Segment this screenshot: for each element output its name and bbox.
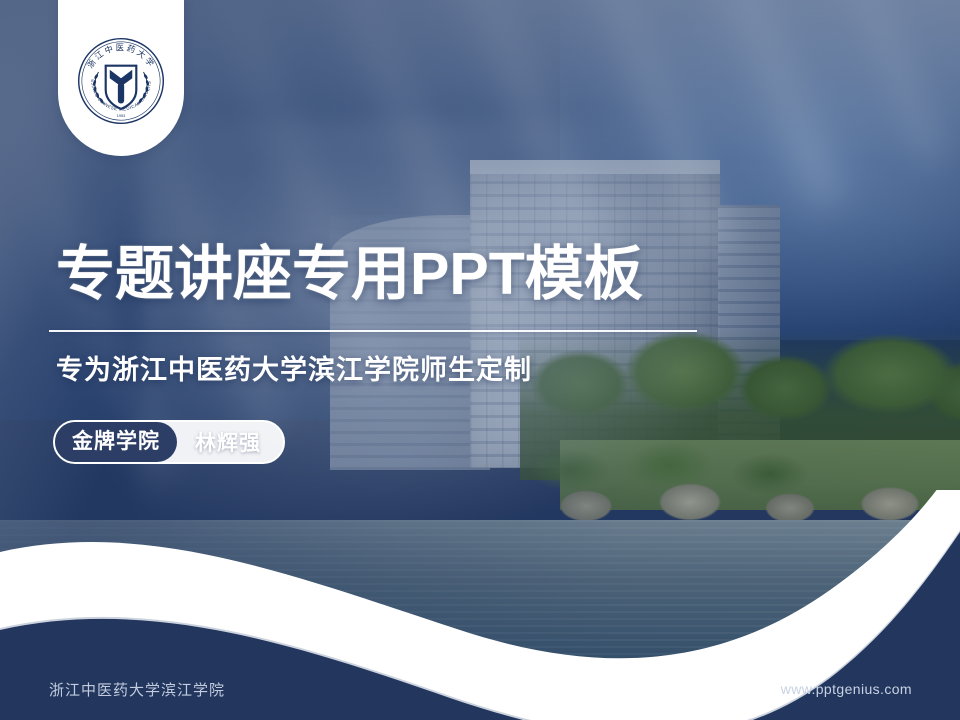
author-badge: 金牌学院 林辉强 [53, 420, 285, 464]
university-logo-tab: 浙江中医药大学 ZHEJIANG CHINESE MEDICAL UNIVERS… [58, 0, 184, 156]
slide-title: 专题讲座专用PPT模板 [56, 243, 756, 306]
presentation-cover-slide: 浙江中医药大学 ZHEJIANG CHINESE MEDICAL UNIVERS… [0, 0, 960, 720]
footer-website[interactable]: www.pptgenius.com [781, 681, 912, 697]
footer-institution: 浙江中医药大学滨江学院 [49, 679, 225, 700]
svg-text:1953: 1953 [117, 114, 125, 118]
university-emblem-icon: 浙江中医药大学 ZHEJIANG CHINESE MEDICAL UNIVERS… [76, 36, 166, 126]
badge-author-name: 林辉强 [177, 427, 283, 457]
slide-subtitle: 专为浙江中医药大学滨江学院师生定制 [56, 348, 532, 387]
title-divider [49, 330, 697, 332]
badge-chip-label: 金牌学院 [55, 422, 177, 462]
